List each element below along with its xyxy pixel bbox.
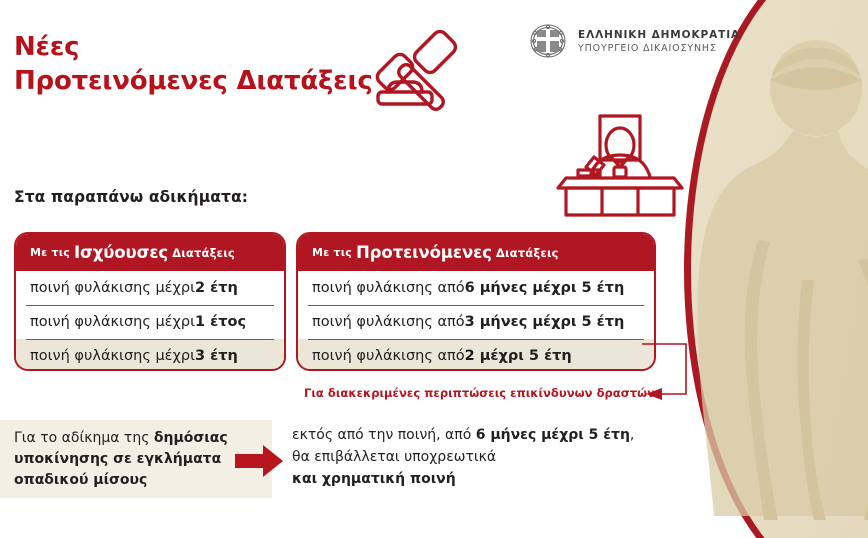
row-bold: 2 μέχρι 5 έτη [465, 348, 572, 364]
ministry-logo: ΕΛΛΗΝΙΚΗ ΔΗΜΟΚΡΑΤΙΑ ΥΠΟΥΡΓΕΙΟ ΔΙΚΑΙΟΣΥΝΗ… [528, 22, 740, 60]
greek-coat-of-arms-icon [528, 22, 568, 60]
row-plain: ποινή φυλάκισης από [312, 280, 465, 296]
table-row: ποινή φυλάκισης από 6 μήνες μέχρι 5 έτη [298, 271, 654, 305]
judge-bench-icon [556, 113, 684, 217]
row-bold: 2 έτη [195, 280, 238, 296]
header-post: Διατάξεις [496, 246, 559, 260]
header-emphasis: Προτεινόμενες [352, 243, 496, 262]
bottom-right-text: εκτός από την ποινή, από 6 μήνες μέχρι 5… [292, 424, 672, 490]
infographic-canvas: Νέες Προτεινόμενες Διατάξεις ΕΛΛΗΝΙΚΗ ΔΗ… [0, 0, 868, 538]
row-bold: 3 μήνες μέχρι 5 έτη [465, 314, 625, 330]
table-proposed-header: Με τις Προτεινόμενες Διατάξεις [298, 234, 654, 271]
row-bold: 6 μήνες μέχρι 5 έτη [465, 280, 625, 296]
header-post: Διατάξεις [172, 246, 235, 260]
row-bold: 1 έτος [195, 314, 246, 330]
decorative-oval [684, 0, 868, 538]
lady-justice-statue-icon [698, 0, 868, 538]
table-current-header: Με τις Ισχύουσες Διατάξεις [16, 234, 284, 271]
table-proposed-provisions: Με τις Προτεινόμενες Διατάξεις ποινή φυλ… [296, 232, 656, 371]
table-row-highlighted: ποινή φυλάκισης από 2 μέχρι 5 έτη [298, 339, 654, 371]
table-row-highlighted: ποινή φυλάκισης μέχρι 3 έτη [16, 339, 284, 371]
header-pre: Με τις [30, 246, 70, 259]
bottom-left-text: Για το αδίκημα της δημόσιας υποκίνησης σ… [14, 428, 228, 491]
row-plain: ποινή φυλάκισης από [312, 348, 465, 364]
row-plain: ποινή φυλάκισης μέχρι [30, 280, 195, 296]
row-bold: 3 έτη [195, 348, 238, 364]
row-plain: ποινή φυλάκισης μέχρι [30, 314, 195, 330]
header-emphasis: Ισχύουσες [70, 243, 172, 262]
table-current-rows: ποινή φυλάκισης μέχρι 2 έτη ποινή φυλάκι… [16, 271, 284, 371]
intro-text: Στα παραπάνω αδικήματα: [14, 188, 248, 206]
page-title: Νέες Προτεινόμενες Διατάξεις [14, 30, 373, 98]
row-plain: ποινή φυλάκισης από [312, 314, 465, 330]
table-row: ποινή φυλάκισης από 3 μήνες μέχρι 5 έτη [298, 305, 654, 339]
row-plain: ποινή φυλάκισης μέχρι [30, 348, 195, 364]
table-row: ποινή φυλάκισης μέχρι 1 έτος [16, 305, 284, 339]
logo-subtitle: ΥΠΟΥΡΓΕΙΟ ΔΙΚΑΙΟΣΥΝΗΣ [578, 42, 740, 55]
table-proposed-rows: ποινή φυλάκισης από 6 μήνες μέχρι 5 έτη … [298, 271, 654, 371]
header-pre: Με τις [312, 246, 352, 259]
table-row: ποινή φυλάκισης μέχρι 2 έτη [16, 271, 284, 305]
themis-decoration [684, 0, 868, 538]
note-text: Για διακεκριμένες περιπτώσεις επικίνδυνω… [304, 386, 655, 400]
bottom-left-panel: Για το αδίκημα της δημόσιας υποκίνησης σ… [0, 420, 272, 498]
table-current-provisions: Με τις Ισχύουσες Διατάξεις ποινή φυλάκισ… [14, 232, 286, 371]
right-arrow-icon [233, 443, 285, 479]
logo-title: ΕΛΛΗΝΙΚΗ ΔΗΜΟΚΡΑΤΙΑ [578, 28, 740, 42]
gavel-icon [368, 26, 480, 114]
